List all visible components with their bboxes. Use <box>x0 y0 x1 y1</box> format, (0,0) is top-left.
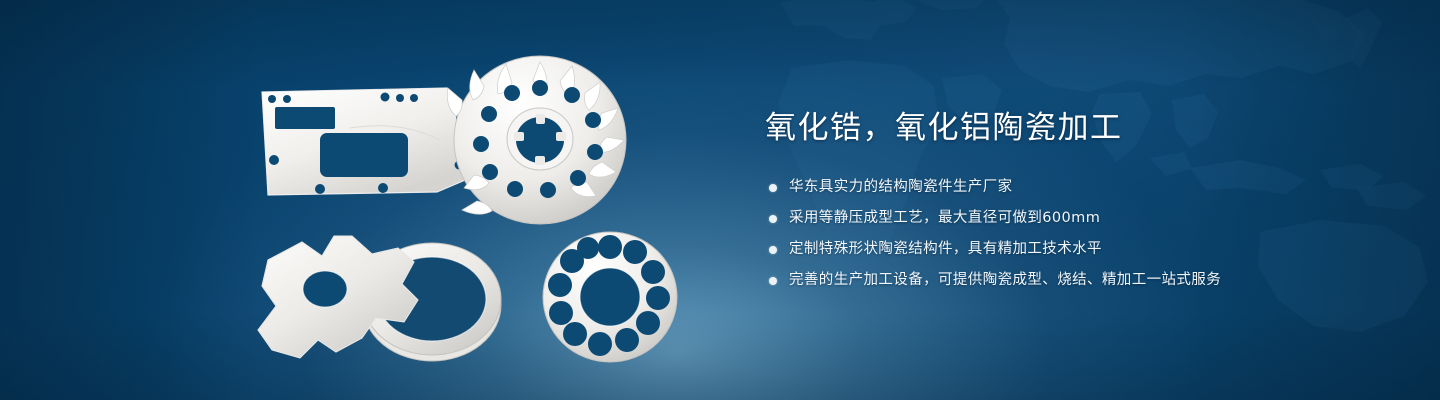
list-item: 定制特殊形状陶瓷结构件，具有精加工技术水平 <box>769 237 1405 262</box>
bullet-dot-icon <box>769 184 777 192</box>
list-item-label: 定制特殊形状陶瓷结构件，具有精加工技术水平 <box>789 237 1102 262</box>
list-item: 采用等静压成型工艺，最大直径可做到600mm <box>769 206 1405 231</box>
bullet-dot-icon <box>769 246 777 254</box>
bullet-dot-icon <box>769 277 777 285</box>
product-perforated-disc <box>543 232 677 362</box>
list-item-label: 完善的生产加工设备，可提供陶瓷成型、烧结、精加工一站式服务 <box>789 268 1221 293</box>
list-item: 完善的生产加工设备，可提供陶瓷成型、烧结、精加工一站式服务 <box>769 268 1405 293</box>
banner-copy: 氧化锆，氧化铝陶瓷加工 华东具实力的结构陶瓷件生产厂家 采用等静压成型工艺，最大… <box>765 108 1405 293</box>
ceramic-products-image <box>0 0 740 400</box>
bullet-dot-icon <box>769 215 777 223</box>
promo-banner: 氧化锆，氧化铝陶瓷加工 华东具实力的结构陶瓷件生产厂家 采用等静压成型工艺，最大… <box>0 0 1440 400</box>
list-item-label: 华东具实力的结构陶瓷件生产厂家 <box>789 175 1013 200</box>
product-plate <box>262 88 470 195</box>
list-item-label: 采用等静压成型工艺，最大直径可做到600mm <box>789 206 1100 231</box>
feature-list: 华东具实力的结构陶瓷件生产厂家 采用等静压成型工艺，最大直径可做到600mm 定… <box>769 175 1405 293</box>
page-title: 氧化锆，氧化铝陶瓷加工 <box>765 108 1405 148</box>
list-item: 华东具实力的结构陶瓷件生产厂家 <box>769 175 1405 200</box>
product-impeller <box>447 56 626 224</box>
